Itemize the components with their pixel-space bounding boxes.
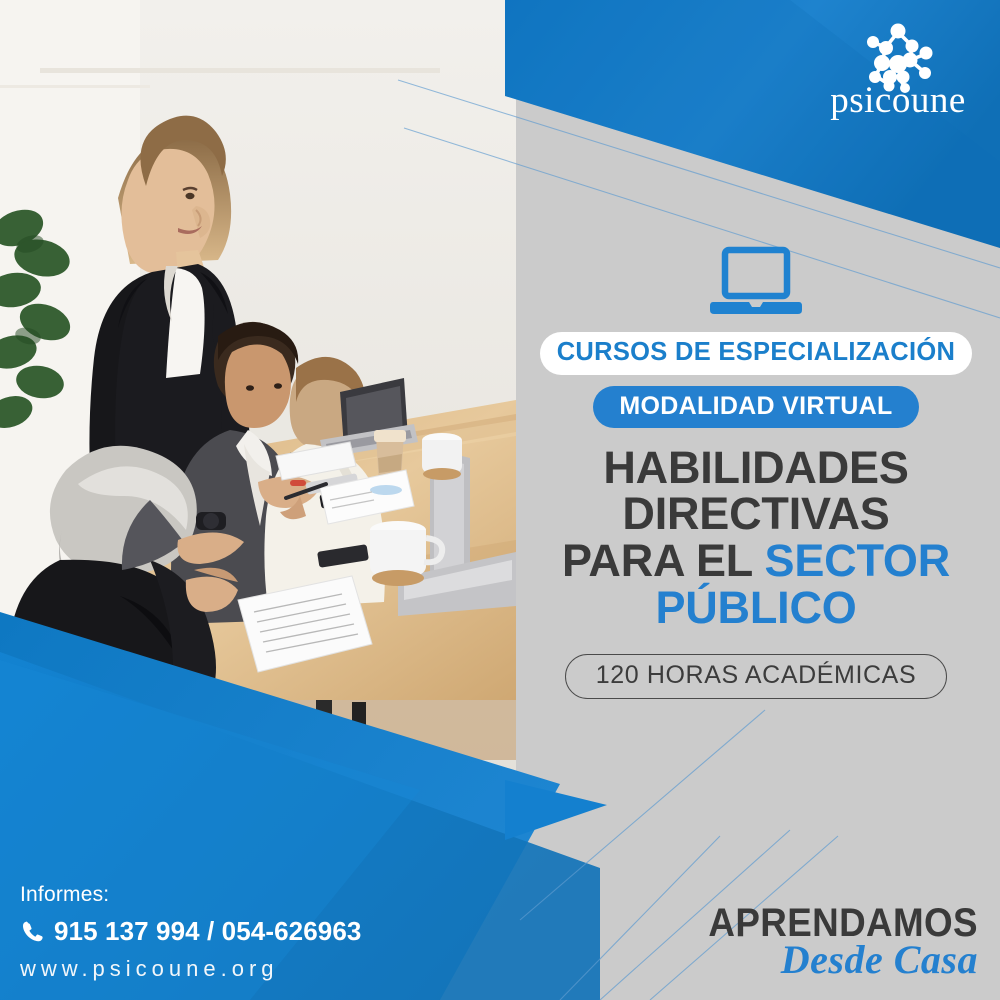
title-line-3: PARA EL SECTOR [530,538,982,585]
meeting-photo [0,0,516,780]
phone-line[interactable]: 915 137 994 / 054-626963 [20,916,440,947]
hours-badge: 120 HORAS ACADÉMICAS [565,654,947,699]
laptop-icon [709,246,803,318]
hero-content: CURSOS DE ESPECIALIZACIÓN MODALIDAD VIRT… [530,246,982,699]
phone-numbers: 915 137 994 / 054-626963 [54,916,361,947]
brand-logo: psicoune [818,20,978,119]
eyebrow-badge: CURSOS DE ESPECIALIZACIÓN [540,332,973,375]
modality-badge: MODALIDAD VIRTUAL [593,386,918,428]
phone-icon [20,919,45,944]
informes-label: Informes: [20,883,440,907]
title-line-4: PÚBLICO [530,585,982,632]
tagline-bottom: Desde Casa [685,940,978,980]
title-line-3-accent: SECTOR [765,535,951,586]
title-line-1: HABILIDADES [530,445,982,492]
page-title: HABILIDADES DIRECTIVAS PARA EL SECTOR PÚ… [530,445,982,632]
tagline-top: APRENDAMOS [709,903,978,943]
contact-info: Informes: 915 137 994 / 054-626963 www.p… [20,883,440,982]
promotional-poster: psicoune CURSOS DE ESPECIALIZACIÓN MODAL… [0,0,1000,1000]
website-link[interactable]: www.psicoune.org [20,956,440,982]
title-line-2: DIRECTIVAS [530,491,982,538]
campaign-tagline: APRENDAMOS Desde Casa [685,903,978,980]
brand-name: psicoune [818,82,978,119]
title-line-3-plain: PARA EL [562,535,765,586]
